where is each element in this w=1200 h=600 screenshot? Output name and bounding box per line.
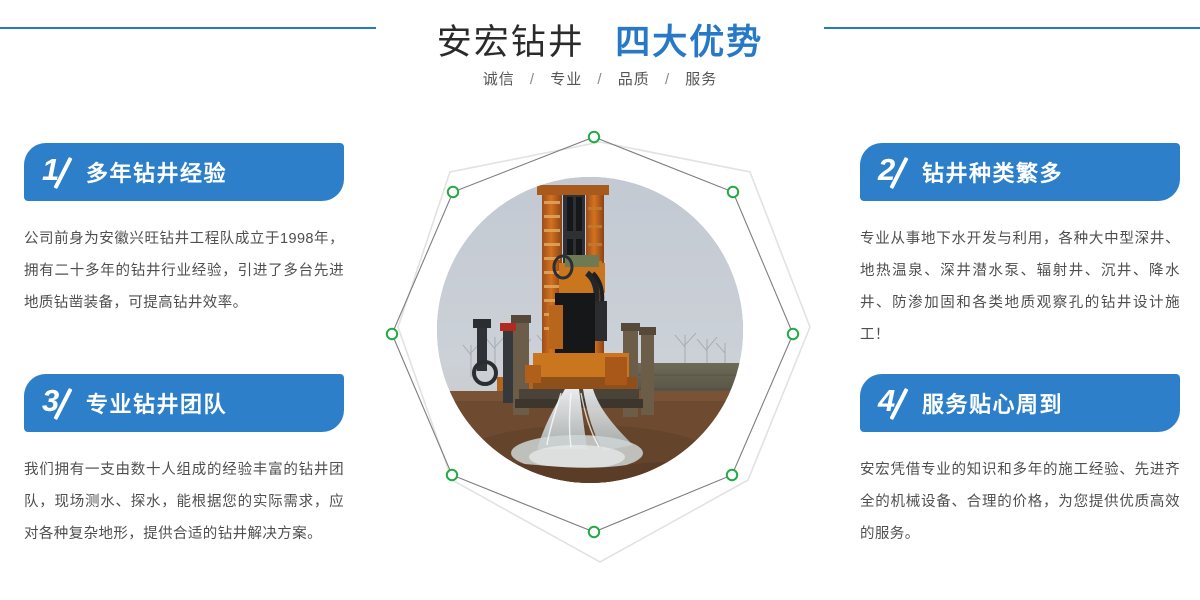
drilling-rig-photo (437, 177, 743, 483)
feature-number-icon-1: 1 (42, 152, 82, 192)
four-advantages-banner: 安宏钻井 四大优势 诚信 / 专业 / 品质 / 服务 1 多年钻井经验 公司前… (0, 0, 1200, 600)
center-visual (380, 112, 820, 600)
feature-title-1: 多年钻井经验 (86, 156, 227, 188)
subtitle-item-2: 品质 (618, 71, 650, 88)
polygon-node (728, 187, 738, 197)
title-company: 安宏钻井 (437, 23, 585, 62)
banner-header: 安宏钻井 四大优势 诚信 / 专业 / 品质 / 服务 (0, 0, 1200, 110)
feature-card-3[interactable]: 3 专业钻井团队 我们拥有一支由数十人组成的经验丰富的钻井团队，现场测水、探水，… (24, 374, 344, 550)
subtitle-item-3: 服务 (685, 71, 717, 88)
feature-badge-1: 1 多年钻井经验 (24, 143, 344, 201)
feature-number-icon-3: 3 (42, 383, 82, 423)
feature-number-icon-2: 2 (878, 152, 918, 192)
subtitle-separator-2: / (665, 71, 670, 88)
feature-card-1[interactable]: 1 多年钻井经验 公司前身为安徽兴旺钻井工程队成立于1998年，拥有二十多年的钻… (24, 143, 344, 319)
subtitle-values: 诚信 / 专业 / 品质 / 服务 (0, 68, 1200, 89)
feature-body-1: 公司前身为安徽兴旺钻井工程队成立于1998年，拥有二十多年的钻井行业经验，引进了… (24, 223, 344, 319)
polygon-node (589, 527, 599, 537)
feature-badge-3: 3 专业钻井团队 (24, 374, 344, 432)
feature-number-icon-4: 4 (878, 383, 918, 423)
feature-body-3: 我们拥有一支由数十人组成的经验丰富的钻井团队，现场测水、探水，能根据您的实际需求… (24, 454, 344, 550)
subtitle-item-0: 诚信 (483, 71, 515, 88)
feature-body-2: 专业从事地下水开发与利用，各种大中型深井、地热温泉、深井潜水泵、辐射井、沉井、降… (860, 223, 1180, 351)
feature-body-4: 安宏凭借专业的知识和多年的施工经验、先进齐全的机械设备、合理的价格，为您提供优质… (860, 454, 1180, 550)
polygon-node (727, 470, 737, 480)
feature-card-4[interactable]: 4 服务贴心周到 安宏凭借专业的知识和多年的施工经验、先进齐全的机械设备、合理的… (860, 374, 1180, 550)
feature-title-3: 专业钻井团队 (86, 387, 227, 419)
feature-badge-2: 2 钻井种类繁多 (860, 143, 1180, 201)
page-title: 安宏钻井 四大优势 (0, 14, 1200, 65)
polygon-node (788, 329, 798, 339)
subtitle-separator-0: / (530, 71, 535, 88)
feature-title-2: 钻井种类繁多 (922, 156, 1063, 188)
subtitle-item-1: 专业 (550, 71, 582, 88)
feature-card-2[interactable]: 2 钻井种类繁多 专业从事地下水开发与利用，各种大中型深井、地热温泉、深井潜水泵… (860, 143, 1180, 351)
title-accent: 四大优势 (615, 23, 763, 62)
polygon-node (447, 470, 457, 480)
polygon-node (387, 329, 397, 339)
polygon-node (589, 132, 599, 142)
subtitle-separator-1: / (597, 71, 602, 88)
drilling-rig-illustration (437, 177, 743, 483)
feature-title-4: 服务贴心周到 (922, 387, 1063, 419)
polygon-node (448, 187, 458, 197)
feature-badge-4: 4 服务贴心周到 (860, 374, 1180, 432)
